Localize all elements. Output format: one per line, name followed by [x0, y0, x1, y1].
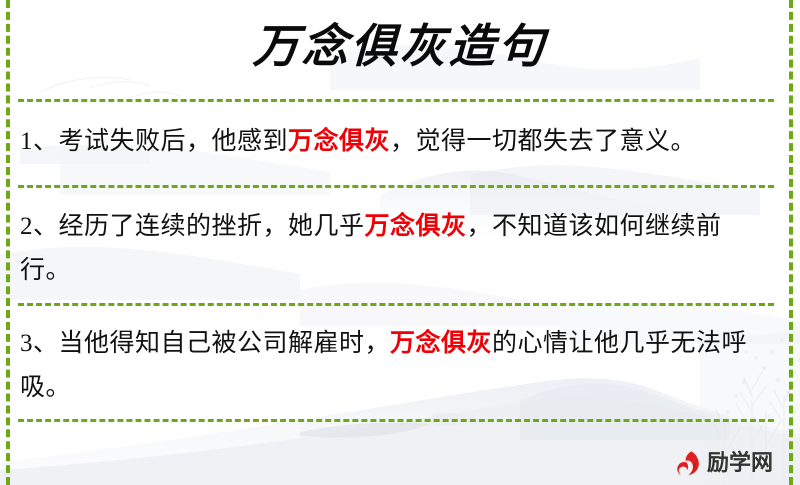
sentence-3-idiom: 万念俱灰 — [390, 330, 492, 357]
sentence-1-after: ，觉得一切都失去了意义。 — [390, 128, 696, 155]
page-title: 万念俱灰造句 — [0, 10, 800, 76]
sentence-item-1: 1、考试失败后，他感到万念俱灰，觉得一切都失去了意义。 — [20, 120, 770, 164]
sentence-item-3: 3、当他得知自己被公司解雇时，万念俱灰的心情让他几乎无法呼吸。 — [20, 322, 770, 410]
sentence-1-before: 考试失败后，他感到 — [59, 128, 289, 155]
watermark-label: 励学网 — [707, 449, 773, 479]
sentence-3-index: 3、 — [20, 330, 59, 357]
divider-after-sentence-3 — [18, 419, 774, 422]
divider-after-sentence-1 — [18, 185, 774, 188]
sentence-3-before: 当他得知自己被公司解雇时， — [59, 330, 391, 357]
sentence-1-idiom: 万念俱灰 — [288, 128, 390, 155]
sentence-1-index: 1、 — [20, 128, 59, 155]
divider-after-sentence-2 — [18, 303, 774, 306]
divider-below-title — [18, 99, 774, 102]
site-watermark: 励学网 — [672, 449, 773, 479]
page-root: 万念俱灰造句 1、考试失败后，他感到万念俱灰，觉得一切都失去了意义。 2、经历了… — [0, 0, 800, 485]
sentence-2-idiom: 万念俱灰 — [365, 213, 467, 240]
sentence-2-before: 经历了连续的挫折，她几乎 — [59, 213, 365, 240]
sentence-2-index: 2、 — [20, 213, 59, 240]
flame-swirl-icon — [672, 449, 702, 479]
sentence-item-2: 2、经历了连续的挫折，她几乎万念俱灰，不知道该如何继续前行。 — [20, 205, 770, 293]
